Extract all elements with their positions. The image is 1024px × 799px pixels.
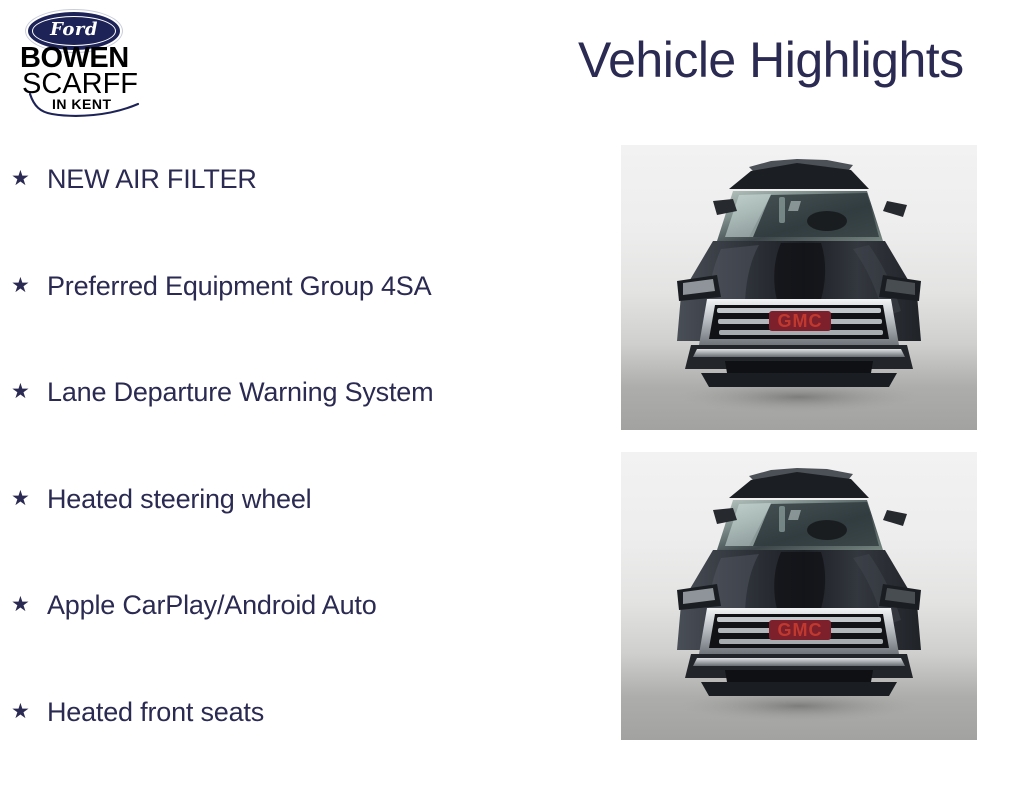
vehicle-photo-primary[interactable]: GMC xyxy=(621,145,977,430)
highlight-label: Apple CarPlay/Android Auto xyxy=(47,586,377,624)
highlight-label: Heated front seats xyxy=(47,693,264,731)
ford-wordmark: Ford xyxy=(50,21,98,39)
list-item: ★ Heated steering wheel xyxy=(0,480,600,587)
dealer-logo: Ford BOWEN SCARFF IN KENT xyxy=(8,4,156,120)
list-item: ★ Preferred Equipment Group 4SA xyxy=(0,267,600,374)
star-bullet-icon: ★ xyxy=(11,490,29,508)
star-bullet-icon: ★ xyxy=(11,703,29,721)
vehicle-photo-secondary[interactable]: GMC xyxy=(621,452,977,740)
star-bullet-icon: ★ xyxy=(11,277,29,295)
svg-text:GMC: GMC xyxy=(778,620,823,640)
list-item: ★ Apple CarPlay/Android Auto xyxy=(0,586,600,693)
star-bullet-icon: ★ xyxy=(11,170,29,188)
page-title: Vehicle Highlights xyxy=(578,30,964,90)
highlight-label: Heated steering wheel xyxy=(47,480,311,518)
list-item: ★ Lane Departure Warning System xyxy=(0,373,600,480)
vehicle-front-illustration: GMC xyxy=(621,145,977,430)
vehicle-front-illustration: GMC xyxy=(621,452,977,740)
dealer-name-line3: IN KENT xyxy=(52,97,112,111)
highlight-label: Preferred Equipment Group 4SA xyxy=(47,267,431,305)
list-item: ★ Heated front seats xyxy=(0,693,600,799)
svg-text:GMC: GMC xyxy=(778,311,823,331)
highlight-label: NEW AIR FILTER xyxy=(47,160,257,198)
highlight-label: Lane Departure Warning System xyxy=(47,373,433,411)
star-bullet-icon: ★ xyxy=(11,383,29,401)
vehicle-highlights-list: ★ NEW AIR FILTER ★ Preferred Equipment G… xyxy=(0,160,600,799)
list-item: ★ NEW AIR FILTER xyxy=(0,160,600,267)
star-bullet-icon: ★ xyxy=(11,596,29,614)
